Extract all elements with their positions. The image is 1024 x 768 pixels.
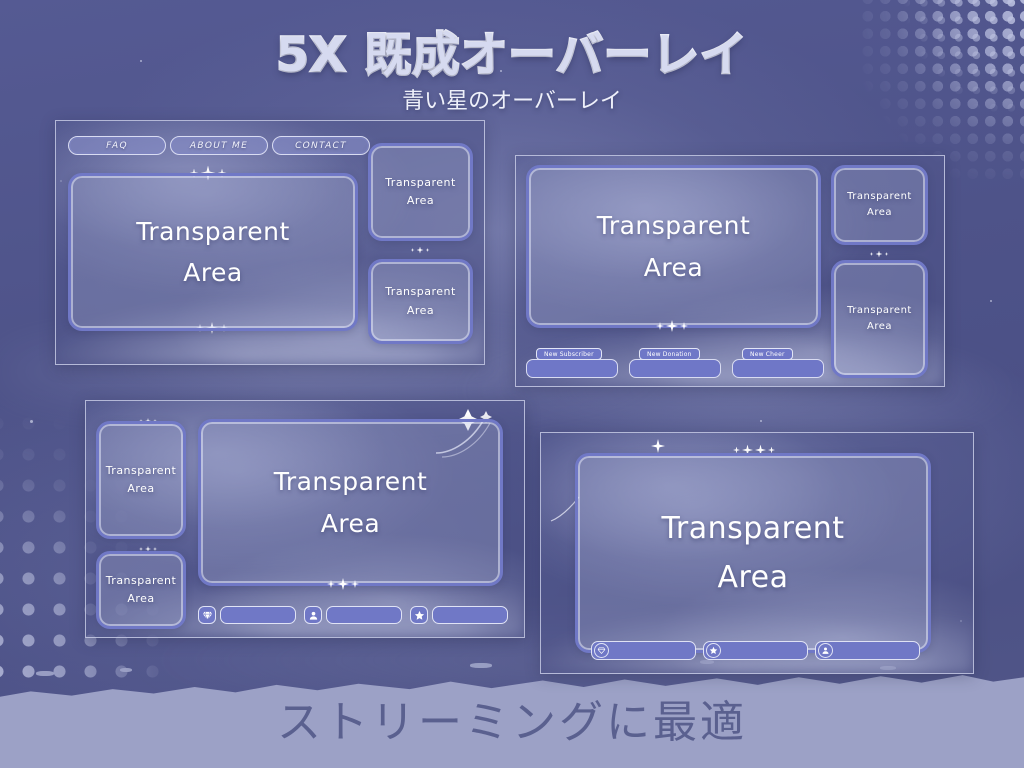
banner-fleck — [120, 668, 132, 672]
main-transparent-area[interactable]: Transparent Area — [68, 173, 358, 331]
alert-new-cheer[interactable]: New Cheer — [732, 348, 824, 378]
alert-new-cheer-tag: New Cheer — [742, 348, 793, 360]
alert-new-cheer-bar — [732, 359, 824, 378]
side-transparent-area-bottom[interactable]: Transparent Area — [831, 260, 928, 378]
alert-new-donation-label: New Donation — [647, 351, 692, 358]
tab-faq-label: FAQ — [106, 141, 128, 151]
side-transparent-area-bottom-label: Transparent Area — [106, 572, 177, 608]
tab-faq[interactable]: FAQ — [68, 136, 166, 155]
label-line-1: Transparent — [847, 305, 912, 316]
info-bar-person[interactable] — [815, 641, 920, 660]
alert-new-subscriber-bar — [526, 359, 618, 378]
info-bar-diamond-field[interactable] — [220, 606, 296, 624]
alert-new-donation[interactable]: New Donation — [629, 348, 721, 378]
overlay-panel-faq-layout[interactable]: FAQ ABOUT ME CONTACT Transparent Area Tr… — [55, 120, 485, 365]
side-transparent-area-top-label: Transparent Area — [385, 174, 456, 210]
sparkle-divider — [404, 246, 436, 254]
label-line-2: Area — [106, 590, 177, 608]
sparkle-cluster — [648, 319, 696, 333]
page-title: 5X 既成オーバーレイ — [0, 16, 1024, 85]
alert-new-subscriber-tag: New Subscriber — [536, 348, 602, 360]
tab-contact[interactable]: CONTACT — [272, 136, 370, 155]
star-icon[interactable] — [706, 643, 721, 658]
label-line-1: Transparent — [661, 511, 844, 546]
banner-fleck — [470, 663, 492, 668]
label-line-1: Transparent — [136, 217, 290, 246]
page-subtitle: 青い星のオーバーレイ — [0, 83, 1024, 115]
label-line-1: Transparent — [274, 467, 428, 496]
sparkle-cluster — [318, 577, 368, 591]
side-transparent-area-top[interactable]: Transparent Area — [96, 421, 186, 539]
overlay-panel-sidebar-layout[interactable]: Transparent Area Transparent Area Transp… — [85, 400, 525, 638]
star-icon[interactable] — [410, 606, 428, 624]
info-bar-diamond[interactable] — [591, 641, 696, 660]
label-line-1: Transparent — [106, 574, 177, 587]
star-speck — [990, 300, 992, 302]
main-transparent-area-label: Transparent Area — [274, 461, 428, 544]
label-line-2: Area — [847, 319, 912, 336]
info-bar-person[interactable] — [304, 606, 402, 624]
sparkle-divider — [864, 250, 894, 258]
diamond-icon[interactable] — [198, 606, 216, 624]
star-speck — [760, 420, 762, 422]
person-icon[interactable] — [304, 606, 322, 624]
label-line-2: Area — [597, 247, 751, 288]
side-transparent-area-bottom-label: Transparent Area — [847, 303, 912, 336]
info-bar-star[interactable] — [703, 641, 808, 660]
tab-about-me-label: ABOUT ME — [190, 141, 248, 151]
main-transparent-area[interactable]: Transparent Area — [198, 419, 503, 586]
banner-fleck — [36, 671, 54, 676]
person-icon[interactable] — [818, 643, 833, 658]
diamond-icon[interactable] — [594, 643, 609, 658]
label-line-1: Transparent — [385, 285, 456, 298]
overlay-panel-fullscreen-layout[interactable]: Transparent Area — [540, 432, 974, 674]
star-speck — [30, 420, 33, 423]
alert-new-donation-bar — [629, 359, 721, 378]
label-line-2: Area — [136, 252, 290, 293]
main-transparent-area-label: Transparent Area — [597, 205, 751, 288]
footer-tagline: ストリーミングに最適 — [0, 686, 1024, 750]
label-line-2: Area — [385, 192, 456, 210]
label-line-2: Area — [106, 480, 177, 498]
label-line-1: Transparent — [597, 211, 751, 240]
tab-about-me[interactable]: ABOUT ME — [170, 136, 268, 155]
label-line-2: Area — [274, 503, 428, 544]
alert-new-donation-tag: New Donation — [639, 348, 700, 360]
label-line-2: Area — [385, 302, 456, 320]
side-transparent-area-top[interactable]: Transparent Area — [831, 165, 928, 245]
info-bar-diamond[interactable] — [198, 606, 296, 624]
label-line-2: Area — [847, 205, 912, 222]
info-bar-star-field[interactable] — [432, 606, 508, 624]
label-line-1: Transparent — [106, 464, 177, 477]
label-line-1: Transparent — [385, 176, 456, 189]
overlay-panel-alerts-layout[interactable]: Transparent Area Transparent Area Transp… — [515, 155, 945, 387]
side-transparent-area-top-label: Transparent Area — [847, 189, 912, 222]
side-transparent-area-bottom[interactable]: Transparent Area — [368, 259, 473, 344]
main-transparent-area[interactable]: Transparent Area — [526, 165, 821, 328]
main-transparent-area-label: Transparent Area — [136, 211, 290, 294]
side-transparent-area-top-label: Transparent Area — [106, 462, 177, 498]
side-transparent-area-bottom[interactable]: Transparent Area — [96, 551, 186, 629]
alert-new-subscriber-label: New Subscriber — [544, 351, 594, 358]
side-transparent-area-bottom-label: Transparent Area — [385, 283, 456, 319]
main-transparent-area[interactable]: Transparent Area — [575, 453, 931, 653]
label-line-2: Area — [661, 553, 844, 603]
label-line-1: Transparent — [847, 191, 912, 202]
info-bar-person-field[interactable] — [326, 606, 402, 624]
alert-new-subscriber[interactable]: New Subscriber — [526, 348, 618, 378]
side-transparent-area-top[interactable]: Transparent Area — [368, 143, 473, 241]
tab-contact-label: CONTACT — [295, 141, 347, 151]
info-bar-star[interactable] — [410, 606, 508, 624]
main-transparent-area-label: Transparent Area — [661, 504, 844, 603]
alert-new-cheer-label: New Cheer — [750, 351, 785, 358]
